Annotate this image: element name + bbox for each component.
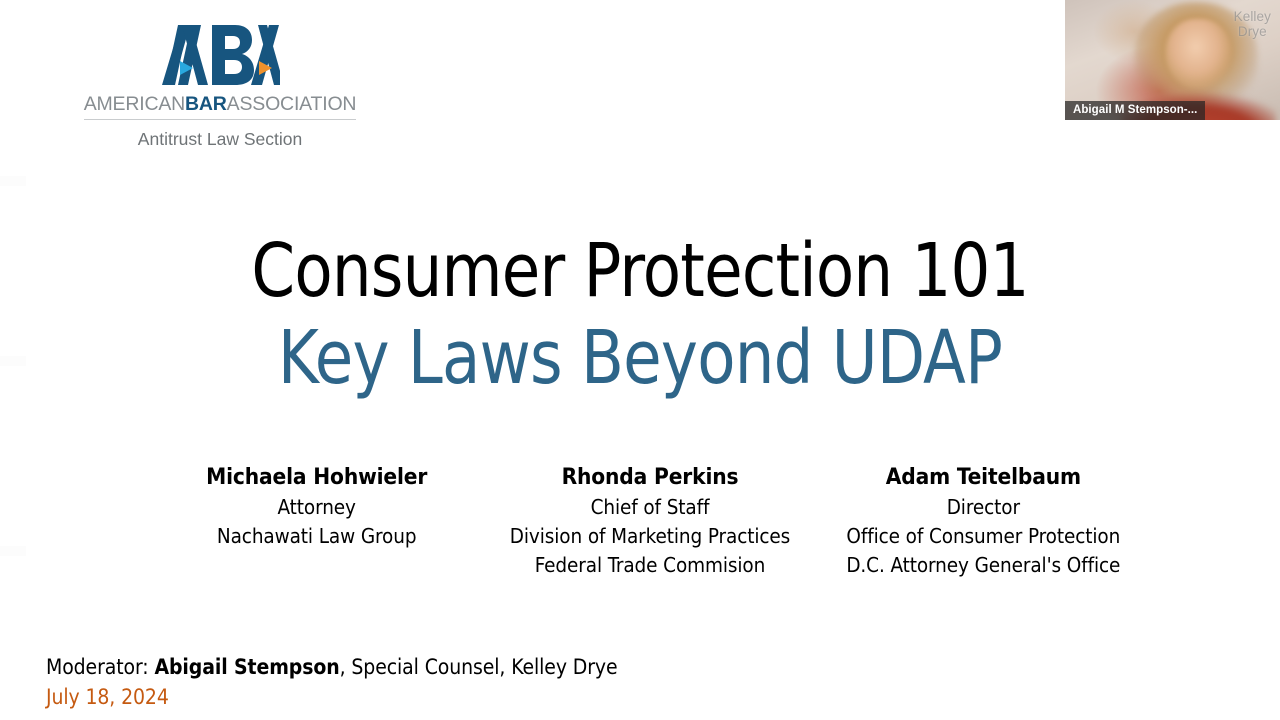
slide-title: Consumer Protection 101 [38, 228, 1241, 315]
logo-divider-rule [84, 119, 356, 120]
speaker-detail: Office of Consumer Protection [817, 522, 1150, 551]
watermark-line-1: Kelley [1234, 9, 1271, 24]
speaker-detail: Federal Trade Commision [483, 551, 816, 580]
slide-footer: Moderator: Abigail Stempson, Special Cou… [46, 652, 618, 713]
speaker-column-1: Michaela Hohwieler Attorney Nachawati La… [150, 463, 483, 551]
slide-title-block: Consumer Protection 101 Key Laws Beyond … [0, 228, 1280, 401]
moderator-line: Moderator: Abigail Stempson, Special Cou… [46, 652, 618, 682]
moderator-prefix: Moderator: [46, 655, 154, 679]
speaker-detail: D.C. Attorney General's Office [817, 551, 1150, 580]
speaker-name: Rhonda Perkins [483, 463, 816, 493]
speaker-detail: Division of Marketing Practices [483, 522, 816, 551]
aba-wordmark-american: AMERICAN [84, 93, 185, 115]
moderator-suffix: , Special Counsel, Kelley Drye [340, 655, 618, 679]
aba-wordmark: AMERICANBARASSOCIATION [80, 94, 360, 114]
moderator-name: Abigail Stempson [154, 655, 339, 679]
aba-section-label: Antitrust Law Section [80, 129, 360, 150]
aba-logo-mark [160, 22, 280, 88]
watermark-line-2: Drye [1234, 24, 1271, 39]
aba-wordmark-bar: BAR [185, 93, 227, 115]
speaker-name: Adam Teitelbaum [817, 463, 1150, 493]
edge-artifact [0, 176, 26, 186]
speaker-detail: Director [817, 493, 1150, 522]
participant-video-tile[interactable]: Kelley Drye Abigail M Stempson-... [1065, 0, 1280, 120]
speaker-detail: Nachawati Law Group [150, 522, 483, 551]
speaker-detail: Chief of Staff [483, 493, 816, 522]
slide-subtitle: Key Laws Beyond UDAP [38, 315, 1241, 402]
speaker-column-3: Adam Teitelbaum Director Office of Consu… [817, 463, 1150, 580]
presentation-slide: AMERICANBARASSOCIATION Antitrust Law Sec… [0, 0, 1280, 720]
participant-name-label: Abigail M Stempson-... [1065, 101, 1205, 120]
presentation-date: July 18, 2024 [46, 682, 618, 712]
aba-wordmark-association: ASSOCIATION [227, 93, 357, 115]
video-subject-face [1166, 19, 1231, 89]
aba-logo: AMERICANBARASSOCIATION Antitrust Law Sec… [80, 22, 360, 150]
edge-artifact [0, 546, 26, 556]
speaker-detail: Attorney [150, 493, 483, 522]
speaker-column-2: Rhonda Perkins Chief of Staff Division o… [483, 463, 816, 580]
speaker-list: Michaela Hohwieler Attorney Nachawati La… [150, 463, 1150, 580]
speaker-name: Michaela Hohwieler [150, 463, 483, 493]
kelley-drye-watermark: Kelley Drye [1234, 9, 1271, 39]
